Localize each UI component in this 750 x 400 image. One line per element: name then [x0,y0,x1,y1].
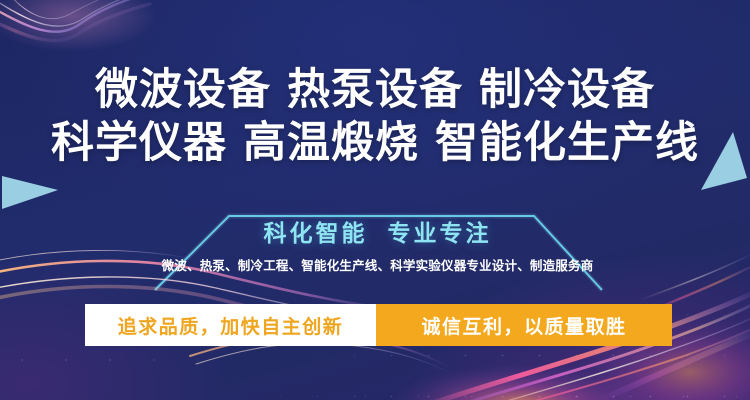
subtitle: 微波、热泵、制冷工程、智能化生产线、科学实验仪器专业设计、制造服务商 [150,255,605,274]
tagline-part-1: 科化智能 [264,220,368,246]
slogan-bar: 追求品质，加快自主创新 诚信互利，以质量取胜 [85,304,672,346]
middle-block: 科化智能专业专注 微波、热泵、制冷工程、智能化生产线、科学实验仪器专业设计、制造… [150,208,605,292]
promo-banner: 微波设备热泵设备制冷设备 科学仪器高温煅烧智能化生产线 科化智能专业专注 微波、… [0,0,750,400]
tagline: 科化智能专业专注 [150,214,605,248]
headline-line-2: 科学仪器高温煅烧智能化生产线 [0,117,750,170]
headline-word-2: 热泵设备 [287,66,463,114]
headline-word-3: 制冷设备 [479,66,655,114]
headline: 微波设备热泵设备制冷设备 科学仪器高温煅烧智能化生产线 [0,64,750,170]
slogan-left-panel: 追求品质，加快自主创新 [85,304,376,346]
tagline-part-2: 专业专注 [388,220,492,246]
headline-line-1: 微波设备热泵设备制冷设备 [0,64,750,117]
headline-word-4: 科学仪器 [51,119,227,167]
headline-word-1: 微波设备 [95,66,271,114]
slogan-right-panel: 诚信互利，以质量取胜 [376,304,672,346]
headline-word-6: 智能化生产线 [435,119,699,167]
headline-word-5: 高温煅烧 [243,119,419,167]
